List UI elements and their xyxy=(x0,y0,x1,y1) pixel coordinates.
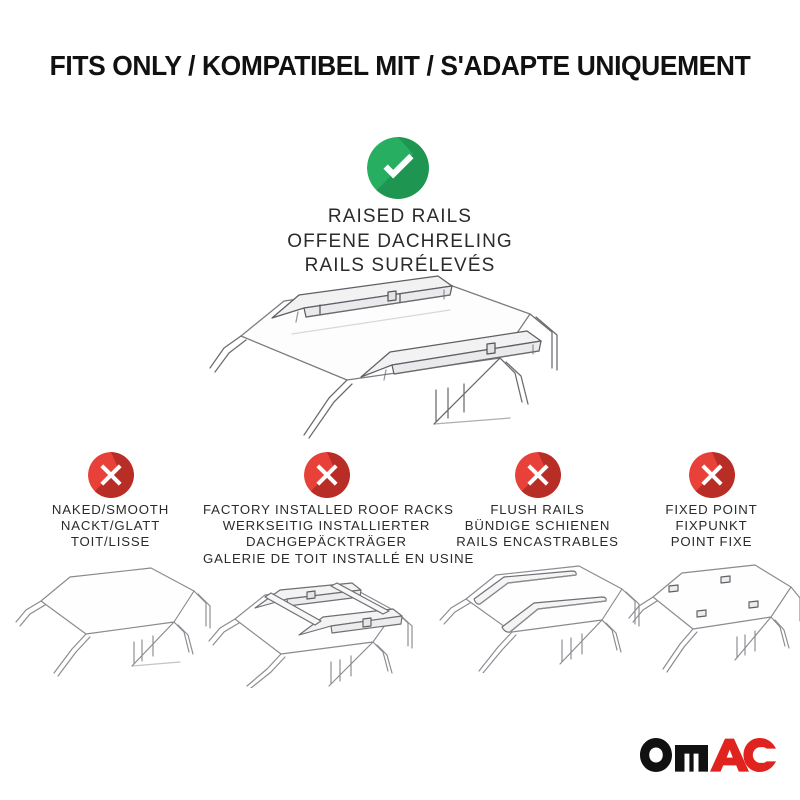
fitment-caption: FACTORY INSTALLED ROOF RACKS WERKSEITIG … xyxy=(203,502,450,567)
caption-line-en: FACTORY INSTALLED ROOF RACKS xyxy=(203,502,450,518)
caption-line-fr: RAILS ENCASTRABLES xyxy=(432,534,643,550)
caption-line-de-1: WERKSEITIG INSTALLIERTER xyxy=(203,518,450,534)
hero-caption-line-en: RAISED RAILS xyxy=(0,205,800,230)
x-circle-icon xyxy=(88,452,134,498)
caption-line-de: BÜNDIGE SCHIENEN xyxy=(432,518,643,534)
check-circle-icon xyxy=(367,137,429,199)
caption-line-fr: POINT FIXE xyxy=(623,534,800,550)
caption-line-fr: GALERIE DE TOIT INSTALLÉ EN USINE xyxy=(203,551,450,567)
fitment-infographic: FITS ONLY / KOMPATIBEL MIT / S'ADAPTE UN… xyxy=(0,0,800,800)
caption-line-en: NAKED/SMOOTH xyxy=(8,502,213,518)
caption-line-en: FIXED POINT xyxy=(623,502,800,518)
x-circle-icon xyxy=(515,452,561,498)
car-roof-fixed-point-illustration xyxy=(623,555,800,673)
hero-caption-line-de: OFFENE DACHRELING xyxy=(0,230,800,255)
page-title: FITS ONLY / KOMPATIBEL MIT / S'ADAPTE UN… xyxy=(16,50,784,82)
brand-name: OMAC xyxy=(640,772,641,773)
caption-line-fr: TOIT/LISSE xyxy=(8,534,213,550)
car-roof-naked-illustration xyxy=(8,560,213,678)
fitment-caption: FLUSH RAILS BÜNDIGE SCHIENEN RAILS ENCAS… xyxy=(432,502,643,551)
x-circle-icon xyxy=(689,452,735,498)
fitment-caption: FIXED POINT FIXPUNKT POINT FIXE xyxy=(623,502,800,551)
hero-caption: RAISED RAILS OFFENE DACHRELING RAILS SUR… xyxy=(0,205,800,279)
omac-logo: OMAC xyxy=(640,738,776,772)
car-roof-flush-rails-illustration xyxy=(432,555,643,673)
fitment-caption: NAKED/SMOOTH NACKT/GLATT TOIT/LISSE xyxy=(8,502,213,551)
caption-line-de-2: DACHGEPÄCKTRÄGER xyxy=(203,534,450,550)
caption-line-de: FIXPUNKT xyxy=(623,518,800,534)
caption-line-en: FLUSH RAILS xyxy=(432,502,643,518)
car-roof-raised-rails-illustration xyxy=(200,272,620,454)
caption-line-de: NACKT/GLATT xyxy=(8,518,213,534)
car-roof-factory-rack-illustration xyxy=(203,570,450,688)
x-circle-icon xyxy=(304,452,350,498)
